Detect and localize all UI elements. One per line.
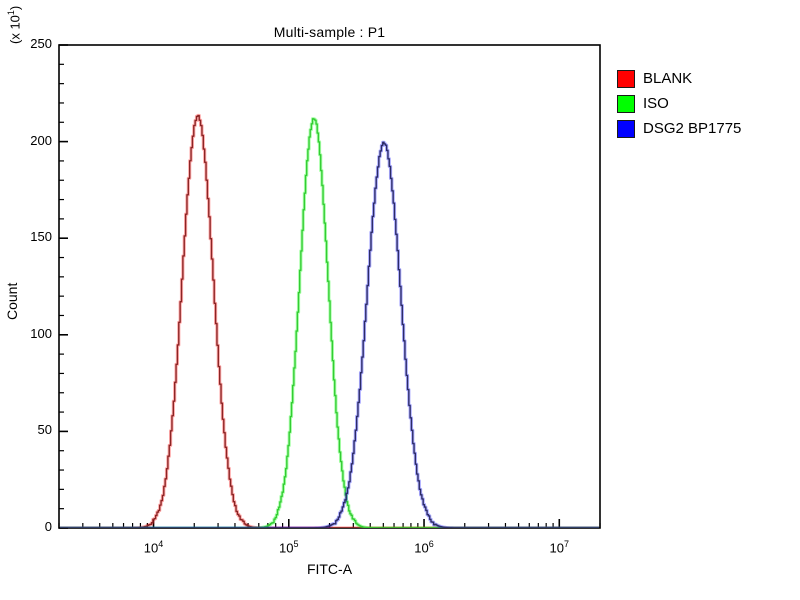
legend-item-label: BLANK <box>643 70 692 87</box>
x-tick-label: 106 <box>400 539 448 555</box>
x-tick-label: 107 <box>535 539 583 555</box>
series-halo <box>59 142 600 528</box>
legend-swatch-icon <box>617 70 635 88</box>
legend-swatch-icon <box>617 95 635 113</box>
legend-swatch-icon <box>617 120 635 138</box>
y-tick-label: 200 <box>8 133 52 148</box>
x-tick-label: 104 <box>130 539 178 555</box>
series-halo <box>59 119 600 528</box>
y-tick-label: 150 <box>8 229 52 244</box>
y-tick-label: 50 <box>8 422 52 437</box>
series-line <box>59 142 600 528</box>
legend-item[interactable]: ISO <box>617 91 741 116</box>
legend-item[interactable]: BLANK <box>617 66 741 91</box>
x-tick-label: 105 <box>265 539 313 555</box>
flow-cytometry-figure: Multi-sample : P1 (x 101) Count FITC-A 0… <box>0 0 800 600</box>
series-group <box>59 115 600 528</box>
y-tick-label: 0 <box>8 519 52 534</box>
legend: BLANKISODSG2 BP1775 <box>617 66 741 141</box>
y-tick-label: 250 <box>8 36 52 51</box>
y-tick-label: 100 <box>8 326 52 341</box>
legend-item-label: DSG2 BP1775 <box>643 120 741 137</box>
legend-item-label: ISO <box>643 95 669 112</box>
legend-item[interactable]: DSG2 BP1775 <box>617 116 741 141</box>
